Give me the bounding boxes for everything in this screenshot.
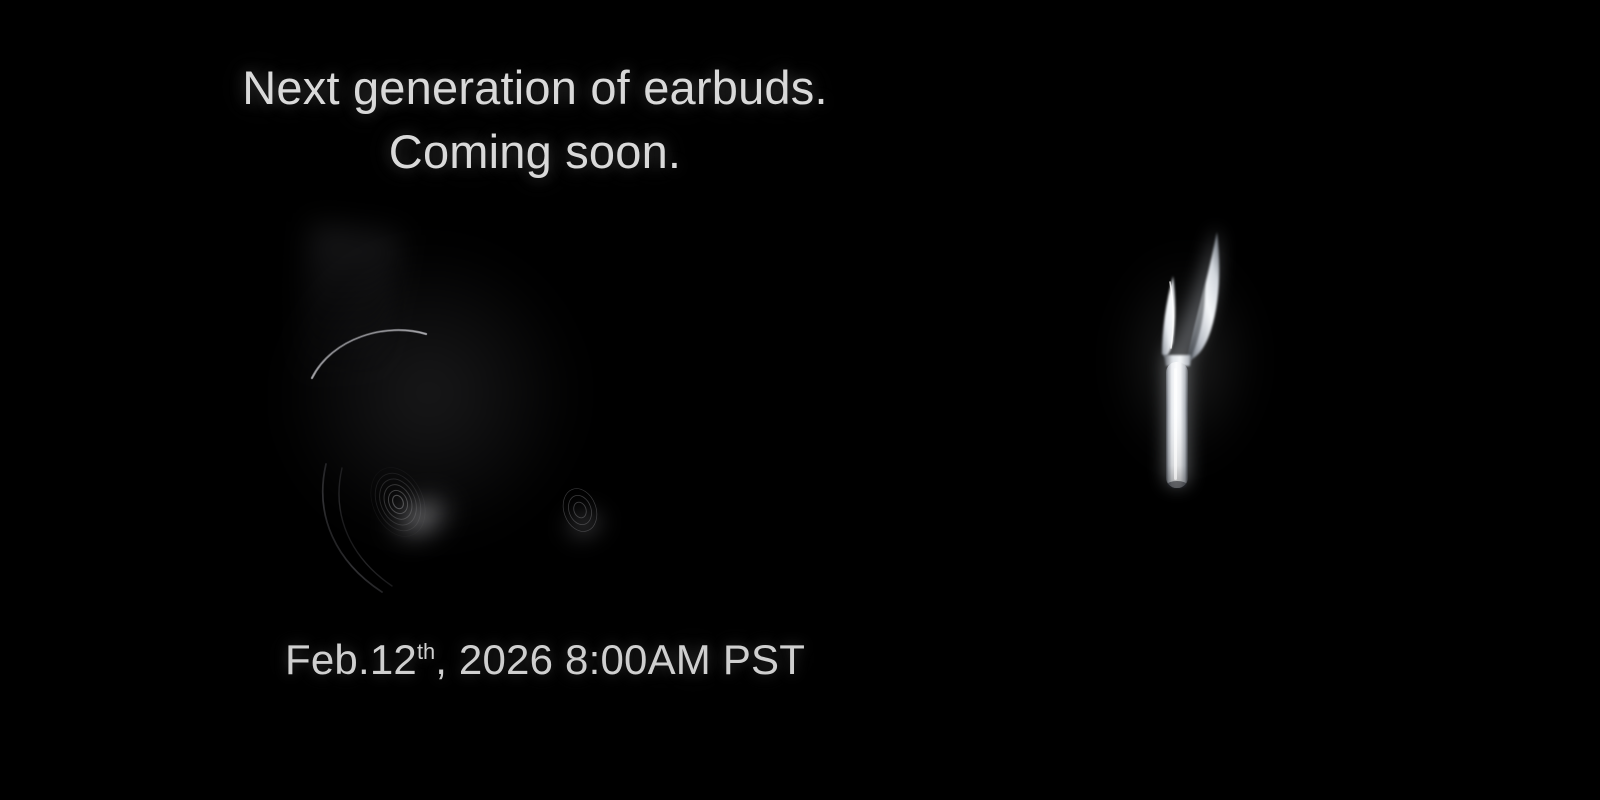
illuminated-earbud-shape (1040, 170, 1330, 540)
headline-line-1: Next generation of earbuds. (0, 56, 1070, 120)
event-date-ordinal-suffix: th (417, 639, 435, 664)
headline-line-2: Coming soon. (0, 120, 1070, 184)
shadowed-earbud-rim-lights (250, 210, 720, 610)
shadowed-earbud (250, 210, 720, 610)
teaser-stage: Next generation of earbuds. Coming soon.… (0, 0, 1600, 800)
event-date-month-day: Feb.12 (285, 636, 417, 683)
headline: Next generation of earbuds. Coming soon. (0, 56, 1070, 184)
event-date: Feb.12th, 2026 8:00AM PST (285, 634, 805, 686)
event-date-remainder: , 2026 8:00AM PST (435, 636, 805, 683)
illuminated-earbud (1040, 170, 1330, 540)
